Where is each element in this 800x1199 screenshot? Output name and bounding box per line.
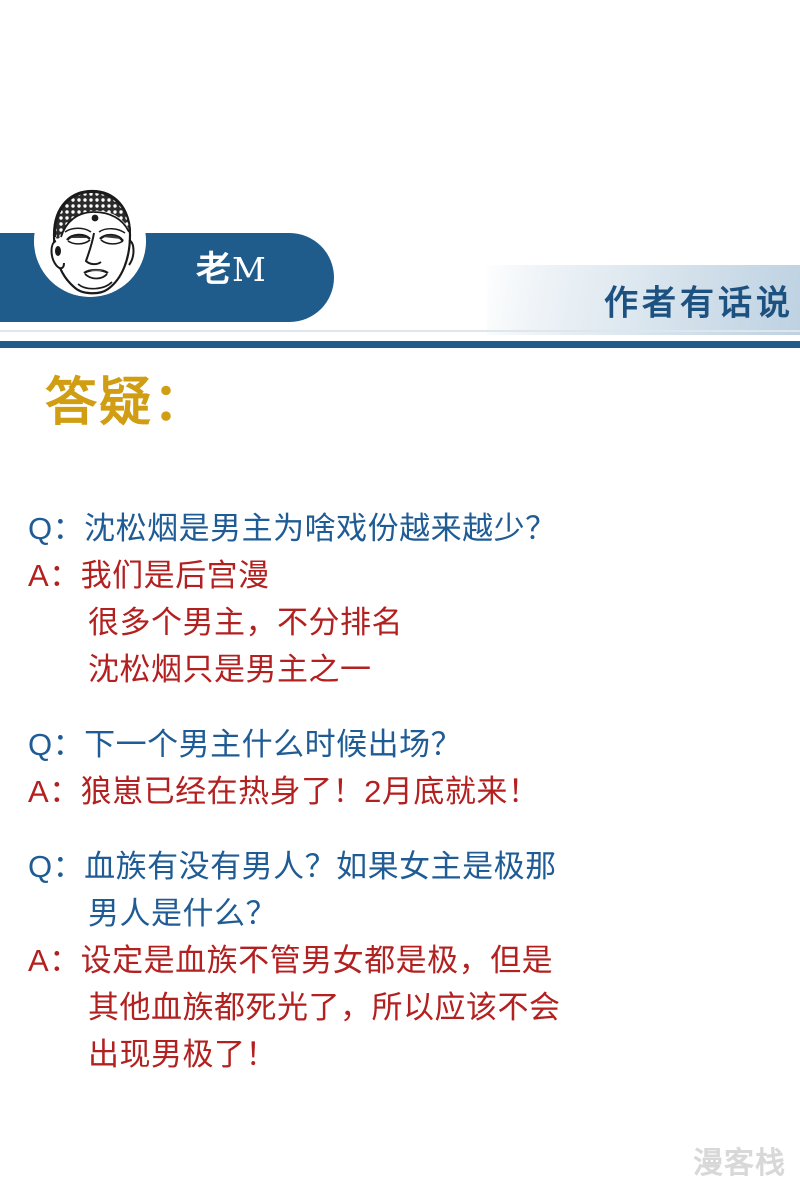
answer-line: A：我们是后宫漫 (28, 552, 776, 599)
answer-line: 很多个男主，不分排名 (28, 599, 776, 646)
header-divider-main (0, 341, 800, 348)
qa-list: Q：沈松烟是男主为啥戏份越来越少？ A：我们是后宫漫 很多个男主，不分排名 沈松… (28, 505, 776, 1106)
question-line: Q：血族有没有男人？如果女主是极那 (28, 843, 776, 890)
answer-line: 出现男极了！ (28, 1031, 776, 1078)
author-name-cjk: 老 (196, 250, 232, 289)
question-line: 男人是什么？ (28, 890, 776, 937)
author-name-latin: M (232, 250, 267, 289)
qa-block: Q：血族有没有男人？如果女主是极那 男人是什么？ A：设定是血族不管男女都是极，… (28, 843, 776, 1078)
buddha-face-avatar-icon (34, 185, 146, 297)
answer-line: 沈松烟只是男主之一 (28, 646, 776, 693)
answer-line: 其他血族都死光了，所以应该不会 (28, 984, 776, 1031)
qa-block: Q：沈松烟是男主为啥戏份越来越少？ A：我们是后宫漫 很多个男主，不分排名 沈松… (28, 505, 776, 693)
question-line: Q：下一个男主什么时候出场？ (28, 721, 776, 768)
author-says-plate: 作者有话说 (487, 265, 800, 335)
answer-line: A：设定是血族不管男女都是极，但是 (28, 937, 776, 984)
section-title-faq: 答疑： (45, 377, 207, 429)
header-divider-thin (0, 330, 800, 332)
qa-block: Q：下一个男主什么时候出场？ A：狼崽已经在热身了！2月底就来！ (28, 721, 776, 815)
site-watermark: 漫客栈 (693, 1149, 786, 1179)
answer-line: A：狼崽已经在热身了！2月底就来！ (28, 768, 776, 815)
author-name-label: 老M (196, 252, 267, 287)
header-band: 作者有话说 (0, 0, 800, 352)
question-line: Q：沈松烟是男主为啥戏份越来越少？ (28, 505, 776, 552)
author-says-label: 作者有话说 (604, 276, 794, 325)
